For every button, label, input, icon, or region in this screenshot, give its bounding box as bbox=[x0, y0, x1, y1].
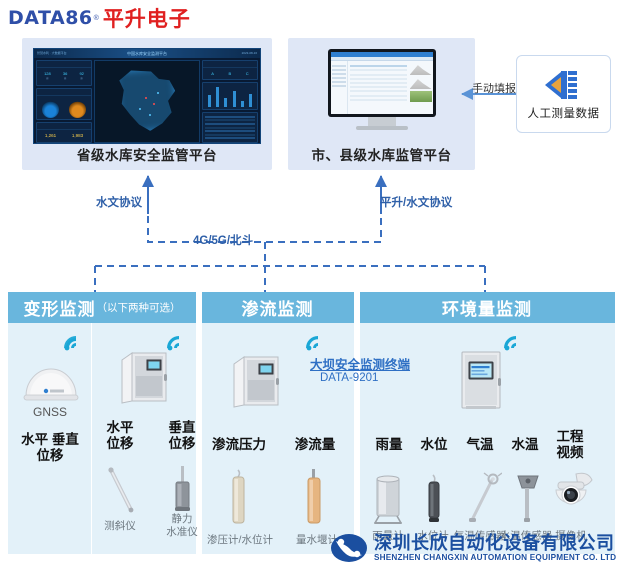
hydrostatic-level-label-l1: 静力 bbox=[156, 513, 208, 525]
sidebar-row bbox=[332, 85, 346, 87]
chart-bar bbox=[224, 98, 227, 107]
status-item: A bbox=[211, 71, 214, 76]
section-seepage-monitoring: 渗流监测 渗流压力 渗流量 bbox=[202, 292, 354, 554]
card-title bbox=[37, 61, 91, 68]
table-row bbox=[350, 90, 407, 92]
kpi-item: 128座 bbox=[44, 71, 51, 80]
sidebar-row bbox=[332, 81, 346, 83]
card-title bbox=[37, 89, 91, 96]
dashboard-left-column: 128座 36座 92座 1,2611,983 bbox=[36, 60, 92, 143]
list-item bbox=[205, 134, 255, 136]
brand-logo: DATA86 ® 平升电子 bbox=[8, 4, 191, 32]
table-header-row bbox=[350, 65, 407, 67]
monitor-mock bbox=[328, 49, 436, 130]
section-header: 渗流监测 bbox=[202, 292, 354, 323]
list-item bbox=[205, 116, 255, 118]
dashboard-body: 128座 36座 92座 1,2611,983 bbox=[34, 58, 260, 144]
left-protocol-label: 水文协议 bbox=[96, 194, 142, 210]
horizontal-displacement-label-l2: 位移 bbox=[94, 436, 146, 451]
wifi-signal-icon bbox=[503, 334, 525, 352]
dashboard-gauge-card bbox=[36, 88, 92, 120]
table-row bbox=[350, 78, 407, 80]
kpi-row: 128座 36座 92座 bbox=[37, 68, 91, 83]
rainfall-label: 雨量 bbox=[364, 437, 414, 452]
section-title: 渗流监测 bbox=[242, 295, 314, 320]
inclinometer-icon bbox=[104, 464, 140, 521]
status-value: C bbox=[246, 71, 249, 76]
wifi-signal-icon bbox=[63, 334, 85, 352]
province-dashboard-mock: 智慧水利 · 大数据平台 中国水库安全监测平台 2023-08-16 128座 … bbox=[33, 48, 261, 144]
card-title bbox=[37, 123, 91, 130]
changxin-logo-icon bbox=[330, 532, 368, 564]
air-temp-label: 气温 bbox=[455, 437, 505, 452]
table-row bbox=[350, 74, 407, 76]
right-protocol-label: 平升/水文协议 bbox=[380, 194, 452, 210]
monitor-screen bbox=[328, 49, 436, 117]
watermark-text: 深圳长欣自动化设备有限公司 SHENZHEN CHANGXIN AUTOMATI… bbox=[374, 534, 616, 563]
bar-chart bbox=[203, 83, 257, 109]
sidebar-row bbox=[332, 69, 346, 71]
list-rows bbox=[203, 113, 257, 142]
status-row: A B C bbox=[203, 68, 257, 79]
seepage-pressure-label: 渗流压力 bbox=[204, 437, 274, 452]
ptz-camera-icon bbox=[550, 470, 596, 531]
water-level-label: 水位 bbox=[409, 437, 459, 452]
map-shape bbox=[115, 66, 179, 134]
network-label: 4G/5G/北斗 bbox=[193, 232, 253, 248]
terminal-name: 大坝安全监测终端 bbox=[310, 354, 410, 373]
number-value: 1,261 bbox=[45, 133, 56, 138]
dashboard-number-card: 1,2611,983 bbox=[36, 122, 92, 143]
gauge-blue bbox=[42, 101, 59, 118]
video-label-line1: 工程 bbox=[545, 429, 595, 444]
status-item: C bbox=[246, 71, 249, 76]
dashboard-kpi-card: 128座 36座 92座 bbox=[36, 60, 92, 86]
horizontal-displacement-label-l1: 水平 bbox=[94, 420, 146, 435]
status-value: B bbox=[229, 71, 232, 76]
kpi-label: 座 bbox=[79, 76, 83, 80]
manual-report-label: 手动填报 bbox=[472, 80, 516, 96]
app-data-table bbox=[348, 61, 409, 114]
manual-measurement-box[interactable]: 人工测量数据 bbox=[516, 55, 611, 133]
section-environment-monitoring: 环境量监测 大坝安全监测终端 DATA-9201 雨量 水位 气温 水温 工程 … bbox=[360, 292, 615, 554]
gauge-orange bbox=[69, 101, 86, 118]
status-value: A bbox=[211, 71, 214, 76]
app-sidebar bbox=[331, 61, 348, 114]
city-platform-panel: 市、县级水库监管平台 bbox=[288, 38, 475, 170]
dashboard-header: 智慧水利 · 大数据平台 中国水库安全监测平台 2023-08-16 bbox=[34, 49, 260, 58]
weir-meter-icon bbox=[302, 468, 326, 535]
manual-measurement-label: 人工测量数据 bbox=[528, 105, 600, 121]
seepage-flow-label: 渗流量 bbox=[280, 437, 350, 452]
cabinet-icon bbox=[230, 354, 280, 408]
kpi-label: 座 bbox=[44, 76, 51, 80]
air-temp-sensor-icon bbox=[464, 472, 502, 531]
chart-bar bbox=[249, 94, 252, 107]
sidebar-row bbox=[332, 73, 346, 75]
gnss-dome-icon bbox=[20, 354, 82, 402]
water-level-sensor-icon bbox=[422, 474, 446, 531]
list-item bbox=[205, 127, 255, 129]
terrain-thumbnail bbox=[410, 77, 432, 89]
table-row bbox=[350, 82, 407, 84]
card-title bbox=[203, 61, 257, 68]
dashboard-title: 中国水库安全监测平台 bbox=[127, 49, 167, 58]
ruler-arrow-icon bbox=[543, 68, 585, 102]
section-header: 环境量监测 bbox=[360, 292, 615, 323]
vertical-displacement-label-l1: 垂直 bbox=[156, 420, 208, 435]
list-item bbox=[205, 137, 255, 139]
table-row bbox=[350, 69, 407, 71]
province-platform-caption: 省级水库安全监管平台 bbox=[22, 144, 272, 164]
dashboard-list-card bbox=[202, 112, 258, 143]
cabinet-icon bbox=[456, 350, 504, 408]
watermark-company-cn: 深圳长欣自动化设备有限公司 bbox=[374, 534, 616, 553]
sidebar-row bbox=[332, 65, 346, 67]
gnss-device-name: GNSS bbox=[8, 406, 92, 418]
brand-registered-mark: ® bbox=[94, 15, 99, 22]
monitor-base bbox=[356, 126, 408, 130]
section-deformation-monitoring: 变形监测 （以下两种可选） GNSS 水平 垂直 位移 bbox=[8, 292, 196, 554]
table-row bbox=[350, 99, 407, 101]
number-row: 1,2611,983 bbox=[37, 130, 91, 141]
map-pin-alert bbox=[145, 97, 147, 99]
city-platform-caption: 市、县级水库监管平台 bbox=[288, 144, 475, 164]
list-item bbox=[205, 119, 255, 121]
vertical-displacement-label-l2: 位移 bbox=[156, 436, 208, 451]
piezometer-label: 渗压计/水位计 bbox=[200, 534, 280, 546]
dashboard-header-left: 智慧水利 · 大数据平台 bbox=[37, 49, 67, 58]
monitor-screen-content bbox=[331, 52, 433, 114]
kpi-item: 92座 bbox=[79, 71, 83, 80]
dashboard-header-right: 2023-08-16 bbox=[242, 49, 257, 58]
monitor-stand bbox=[368, 117, 396, 126]
terminal-model: DATA-9201 bbox=[320, 372, 378, 384]
number-value: 1,983 bbox=[72, 133, 83, 138]
wifi-signal-icon bbox=[305, 334, 327, 352]
rain-gauge-icon bbox=[370, 474, 406, 531]
sidebar-row bbox=[332, 77, 346, 79]
app-main bbox=[331, 61, 433, 114]
gnss-measure-label-line2: 位移 bbox=[8, 448, 92, 463]
terrain-thumbnail bbox=[410, 63, 432, 75]
section-title: 环境量监测 bbox=[442, 295, 532, 320]
watermark: 深圳长欣自动化设备有限公司 SHENZHEN CHANGXIN AUTOMATI… bbox=[330, 527, 620, 569]
list-item bbox=[205, 123, 255, 125]
brand-logo-cn: 平升电子 bbox=[103, 3, 191, 33]
dashboard-status-card: A B C bbox=[202, 60, 258, 80]
province-platform-panel: 智慧水利 · 大数据平台 中国水库安全监测平台 2023-08-16 128座 … bbox=[22, 38, 272, 170]
chart-bar bbox=[233, 91, 236, 107]
chart-bar bbox=[241, 101, 244, 107]
dashboard-right-column: A B C bbox=[202, 60, 258, 143]
province-map bbox=[94, 60, 200, 143]
table-row bbox=[350, 95, 407, 97]
section-title: 变形监测 bbox=[24, 295, 96, 320]
brand-logo-en: DATA86 bbox=[8, 7, 93, 29]
video-label-line2: 视频 bbox=[545, 445, 595, 460]
gnss-measure-label-line1: 水平 垂直 bbox=[8, 432, 92, 447]
dashboard-bar-chart-card bbox=[202, 82, 258, 110]
kpi-item: 36座 bbox=[63, 71, 67, 80]
watermark-company-en: SHENZHEN CHANGXIN AUTOMATION EQUIPMENT C… bbox=[374, 553, 616, 563]
kpi-label: 座 bbox=[63, 76, 67, 80]
cabinet-icon bbox=[118, 350, 170, 406]
water-temp-label: 水温 bbox=[500, 437, 550, 452]
list-item bbox=[205, 130, 255, 132]
water-temp-sensor-icon bbox=[508, 472, 544, 531]
chart-bar bbox=[208, 95, 211, 107]
section-header: 变形监测 （以下两种可选） bbox=[8, 292, 196, 323]
gauge-row bbox=[37, 96, 91, 122]
photo-thumbnail bbox=[410, 91, 432, 102]
table-row bbox=[350, 86, 407, 88]
map-pin-normal bbox=[139, 108, 141, 110]
app-thumbnail-column bbox=[409, 61, 433, 114]
piezometer-icon bbox=[227, 468, 251, 535]
section-subtitle: （以下两种可选） bbox=[97, 300, 181, 315]
chart-bar bbox=[216, 87, 219, 107]
status-item: B bbox=[229, 71, 232, 76]
inclinometer-label: 测斜仪 bbox=[94, 520, 146, 532]
